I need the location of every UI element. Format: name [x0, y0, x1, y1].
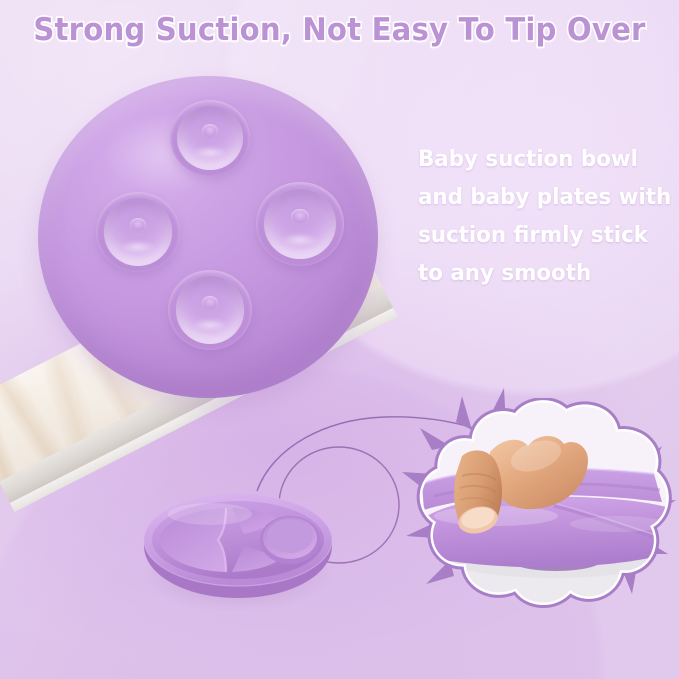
- feature-description: Baby suction bowl and baby plates with s…: [418, 140, 665, 292]
- suction-plate-underside: [38, 76, 382, 406]
- product-image-canvas: Strong Suction, Not Easy To Tip Over Bab…: [0, 0, 679, 679]
- callout-cloud-inset: [404, 398, 679, 630]
- suction-cup-nub: [202, 124, 218, 138]
- suction-cup-top: [170, 100, 250, 176]
- suction-cup-right: [256, 182, 344, 266]
- suction-cup-gloss: [186, 144, 234, 161]
- suction-cup-gloss: [113, 238, 163, 256]
- suction-cup-bottom: [168, 270, 252, 350]
- suction-cup-left: [96, 192, 180, 272]
- suction-cup-gloss: [185, 316, 235, 334]
- suction-cup-nub: [130, 218, 147, 232]
- divided-suction-plate: [138, 490, 336, 615]
- feature-description-line: suction firmly stick: [418, 216, 665, 254]
- feature-description-line: and baby plates with: [418, 178, 665, 216]
- suction-cup-nub: [202, 296, 219, 310]
- feature-description-line: Baby suction bowl: [418, 140, 665, 178]
- feature-description-line: to any smooth: [418, 254, 665, 292]
- suction-cup-nub: [291, 209, 309, 224]
- page-title: Strong Suction, Not Easy To Tip Over: [20, 8, 658, 52]
